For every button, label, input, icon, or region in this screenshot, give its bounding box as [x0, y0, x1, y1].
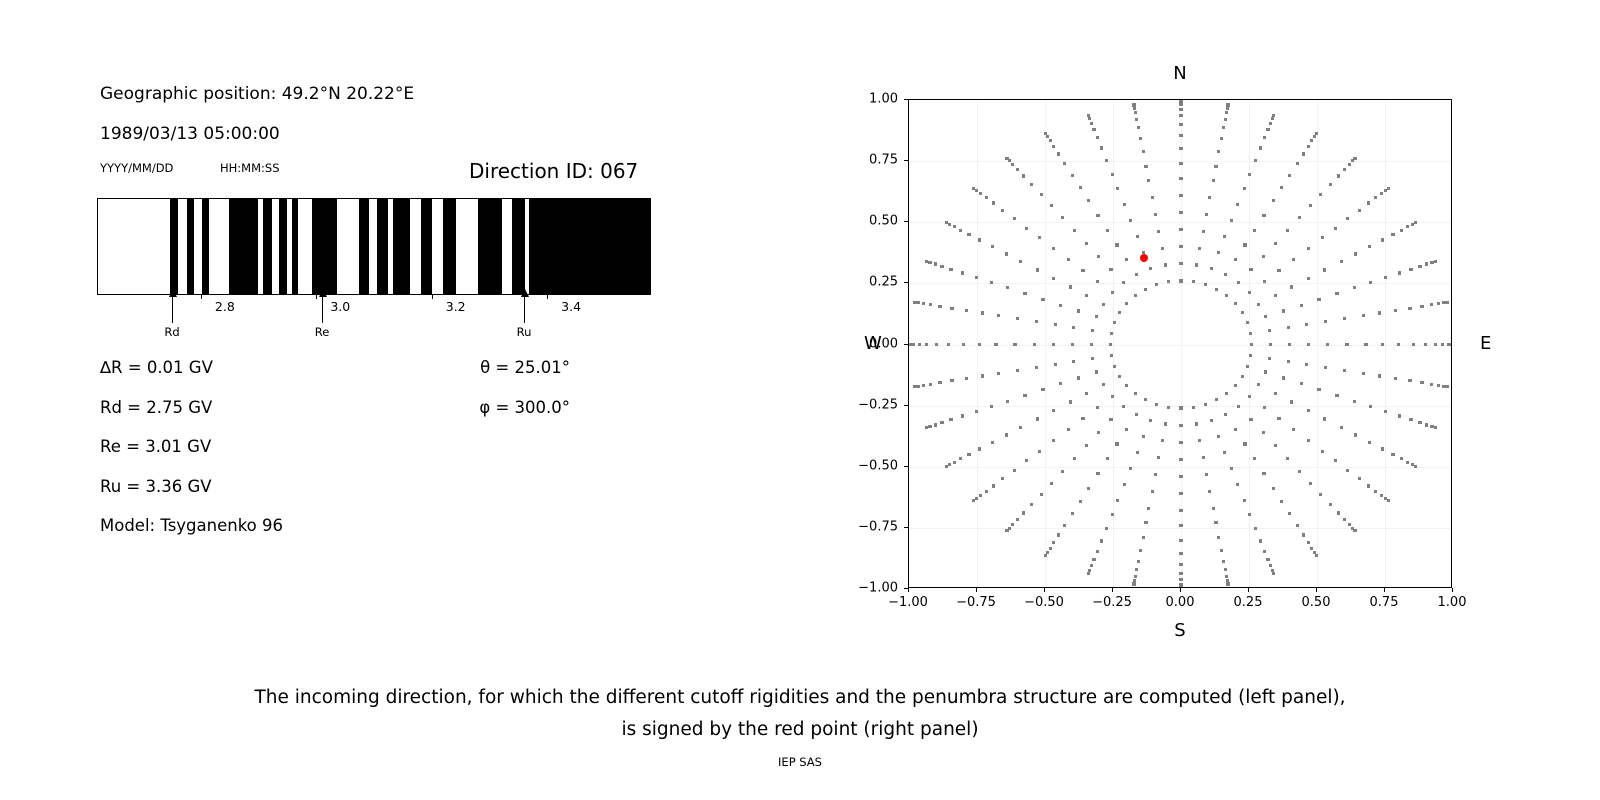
sky-point: [1257, 303, 1260, 306]
sky-point: [1041, 388, 1044, 391]
parameter-left-3: Ru = 3.36 GV: [100, 477, 212, 496]
sky-point: [1011, 163, 1014, 166]
sky-point: [1425, 423, 1428, 426]
penumbra-band: [263, 199, 272, 294]
sky-point: [1151, 490, 1154, 493]
sky-point: [1179, 103, 1182, 106]
sky-point: [1324, 366, 1327, 369]
sky-point: [1272, 114, 1275, 117]
sky-point: [1225, 111, 1228, 114]
sky-point: [1262, 472, 1265, 475]
sky-point: [1069, 285, 1072, 288]
sky-point: [1016, 369, 1019, 372]
sky-point: [1334, 459, 1337, 462]
sky-point: [925, 343, 928, 346]
sky-point: [949, 268, 952, 271]
sky-point: [975, 410, 978, 413]
sky-point: [1090, 564, 1093, 567]
sky-point: [961, 271, 964, 274]
sky-point: [1398, 414, 1401, 417]
sky-point: [1450, 343, 1452, 346]
penumbra-band: [202, 199, 208, 294]
sky-point: [1135, 273, 1138, 276]
sky-point: [1353, 400, 1356, 403]
sky-point: [1102, 383, 1105, 386]
sky-point: [925, 426, 928, 429]
sky-point: [947, 343, 950, 346]
sky-point: [1016, 317, 1019, 320]
sky-point: [1274, 294, 1277, 297]
sky-point: [1071, 174, 1074, 177]
sky-point: [1022, 174, 1025, 177]
penumbra-band: [170, 199, 178, 294]
sky-point: [1319, 193, 1322, 196]
sky-point: [1302, 533, 1305, 536]
sky-point: [1334, 227, 1337, 230]
sky-point: [1005, 433, 1008, 436]
sky-point: [1052, 343, 1055, 346]
sky-point: [991, 441, 994, 444]
sky-point: [1040, 193, 1043, 196]
yaxis-tick: [904, 221, 908, 222]
sky-point: [1340, 426, 1343, 429]
sky-point: [1179, 245, 1182, 248]
sky-point: [1059, 382, 1062, 385]
sky-point: [922, 302, 925, 305]
sky-point: [959, 457, 962, 460]
sky-point: [1412, 343, 1415, 346]
sky-point: [1137, 126, 1140, 129]
xaxis-tick: [1044, 588, 1045, 592]
sky-point: [1230, 467, 1233, 470]
sky-point: [909, 343, 912, 346]
sky-point: [1400, 457, 1403, 460]
sky-point: [1269, 122, 1272, 125]
sky-point: [1364, 343, 1367, 346]
sky-point: [1263, 136, 1266, 139]
sky-point: [1135, 413, 1138, 416]
sky-point: [1125, 258, 1128, 261]
sky-point: [1135, 568, 1138, 571]
yaxis-tick-label: 0.25: [850, 275, 898, 290]
sky-point: [1106, 457, 1109, 460]
sky-point: [929, 303, 932, 306]
sky-point: [1144, 165, 1147, 168]
compass-label-east: E: [1480, 333, 1491, 354]
sky-point: [1307, 541, 1310, 544]
sky-point: [1139, 137, 1142, 140]
sky-point: [1179, 228, 1182, 231]
xaxis-tick: [1316, 588, 1317, 592]
sky-point: [1157, 456, 1160, 459]
sky-point: [1309, 482, 1312, 485]
penumbra-bands-container: [97, 198, 651, 295]
sky-point: [1446, 385, 1449, 388]
sky-point: [1179, 114, 1182, 117]
sky-point: [1202, 230, 1205, 233]
sky-point: [1214, 165, 1217, 168]
penumbra-tick: [316, 295, 317, 299]
sky-point: [1315, 132, 1318, 135]
sky-point: [1050, 482, 1053, 485]
sky-point: [1036, 268, 1039, 271]
sky-point: [1116, 499, 1119, 502]
sky-point: [925, 260, 928, 263]
sky-point: [1217, 435, 1220, 438]
sky-point: [1095, 315, 1098, 318]
sky-point: [1195, 263, 1198, 266]
sky-point: [1391, 453, 1394, 456]
sky-point: [1125, 428, 1128, 431]
sky-point: [948, 223, 951, 226]
gridline-vertical: [1385, 100, 1386, 587]
sky-point: [1249, 268, 1252, 271]
sky-point: [978, 238, 981, 241]
sky-point: [1381, 447, 1384, 450]
sky-point: [1016, 518, 1019, 521]
sky-point: [1264, 315, 1267, 318]
sky-point: [1277, 417, 1280, 420]
sky-point: [1378, 311, 1381, 314]
sky-point: [1057, 152, 1060, 155]
sky-point: [1136, 451, 1139, 454]
sky-point: [1391, 233, 1394, 236]
sky-point: [1353, 286, 1356, 289]
sky-point: [1226, 582, 1229, 585]
sky-point: [1179, 211, 1182, 214]
sky-point: [1110, 332, 1113, 335]
sky-point: [1223, 451, 1226, 454]
gridline-vertical: [1181, 100, 1182, 587]
parameter-left-2: Re = 3.01 GV: [100, 437, 211, 456]
sky-point: [1397, 343, 1400, 346]
xaxis-tick-label: −1.00: [888, 595, 928, 610]
sky-point: [1394, 377, 1397, 380]
sky-point: [1136, 235, 1139, 238]
sky-point: [1282, 376, 1285, 379]
sky-point: [950, 307, 953, 310]
sky-point: [1092, 128, 1095, 131]
sky-point: [913, 301, 916, 304]
sky-point: [1179, 123, 1182, 126]
sky-point: [1224, 273, 1227, 276]
sky-point: [1343, 168, 1346, 171]
sky-point: [938, 381, 941, 384]
sky-point: [1441, 343, 1444, 346]
geographic-position-label: Geographic position: 49.2°N 20.22°E: [100, 84, 414, 104]
sky-point: [1418, 421, 1421, 424]
sky-point: [1323, 268, 1326, 271]
sky-point: [1253, 457, 1256, 460]
sky-point: [1022, 511, 1025, 514]
sky-point: [967, 233, 970, 236]
sky-point: [1310, 139, 1313, 142]
xaxis-tick-label: 0.75: [1370, 595, 1399, 610]
sky-point: [1317, 388, 1320, 391]
sky-point: [934, 262, 937, 265]
xaxis-tick: [1112, 588, 1113, 592]
sky-point: [1335, 292, 1338, 295]
sky-point: [1214, 521, 1217, 524]
sky-point: [1106, 229, 1109, 232]
sky-point: [1237, 281, 1240, 284]
sky-point: [1005, 157, 1008, 160]
sky-point: [913, 385, 916, 388]
yaxis-tick: [904, 405, 908, 406]
sky-point: [1198, 439, 1201, 442]
sky-point: [1266, 558, 1269, 561]
sky-point: [1179, 475, 1182, 478]
sky-point: [1288, 174, 1291, 177]
sky-point: [1236, 203, 1239, 206]
sky-point: [1154, 213, 1157, 216]
sky-point: [975, 189, 978, 192]
sky-point: [1115, 243, 1118, 246]
sky-point: [1292, 258, 1295, 261]
sky-point: [1105, 527, 1108, 530]
sky-point: [1243, 187, 1246, 190]
rigidity-marker-label: Rd: [164, 325, 179, 339]
yaxis-tick-label: 1.00: [850, 92, 898, 107]
time-format-hint: HH:MM:SS: [220, 161, 280, 175]
sky-point: [1434, 343, 1437, 346]
sky-point: [1105, 159, 1108, 162]
sky-point: [1326, 343, 1329, 346]
sky-point: [1142, 536, 1145, 539]
penumbra-band: [512, 199, 525, 294]
sky-map-panel: −1.00−0.75−0.50−0.250.000.250.500.751.00…: [800, 0, 1600, 660]
sky-point: [1262, 431, 1265, 434]
date-format-hint: YYYY/MM/DD: [100, 161, 173, 175]
sky-point: [1337, 174, 1340, 177]
sky-point: [953, 225, 956, 228]
penumbra-panel: Geographic position: 49.2°N 20.22°E 1989…: [0, 0, 800, 660]
sky-point: [1077, 376, 1080, 379]
penumbra-tick-label: 3.4: [561, 299, 581, 314]
sky-point: [1081, 269, 1084, 272]
sky-point: [1420, 305, 1423, 308]
sky-point: [1234, 384, 1237, 387]
xaxis-tick-label: 0.00: [1166, 595, 1195, 610]
sky-point: [1243, 442, 1246, 445]
sky-point: [1164, 422, 1167, 425]
yaxis-tick: [904, 160, 908, 161]
sky-point: [1125, 302, 1128, 305]
penumbra-tick: [547, 295, 548, 299]
sky-point: [1296, 162, 1299, 165]
sky-point: [1179, 100, 1182, 103]
yaxis-tick-label: −1.00: [850, 581, 898, 596]
sky-point: [1073, 457, 1076, 460]
penumbra-band: [359, 199, 369, 294]
sky-point: [1298, 216, 1301, 219]
sky-point: [1122, 405, 1125, 408]
sky-point: [1059, 304, 1062, 307]
sky-point: [1069, 400, 1072, 403]
sky-point: [1248, 291, 1251, 294]
sky-point: [1394, 309, 1397, 312]
sky-point: [1085, 294, 1088, 297]
sky-point: [1253, 229, 1256, 232]
gridline-vertical: [1045, 100, 1046, 587]
sky-point: [929, 383, 932, 386]
sky-point: [1179, 509, 1182, 512]
penumbra-band: [443, 199, 456, 294]
sky-point: [1305, 323, 1308, 326]
sky-point: [1374, 490, 1377, 493]
sky-point: [1144, 288, 1147, 291]
sky-point: [1220, 549, 1223, 552]
sky-point: [1287, 326, 1290, 329]
sky-point: [1272, 199, 1275, 202]
sky-point: [1025, 227, 1028, 230]
sky-point: [1272, 572, 1275, 575]
xaxis-tick-label: −0.75: [956, 595, 996, 610]
sky-point: [1384, 410, 1387, 413]
sky-point: [1300, 304, 1303, 307]
parameter-right-1: φ = 300.0°: [479, 398, 570, 417]
sky-point: [1348, 163, 1351, 166]
sky-point: [1210, 419, 1213, 422]
sky-point: [1367, 484, 1370, 487]
sky-point: [1044, 554, 1047, 557]
sky-point: [1420, 381, 1423, 384]
sky-point: [1387, 187, 1390, 190]
sky-point: [1307, 247, 1310, 250]
sky-point: [1115, 442, 1118, 445]
sky-point: [1345, 343, 1348, 346]
sky-point: [981, 374, 984, 377]
sky-point: [1202, 456, 1205, 459]
sky-point: [1102, 303, 1105, 306]
sky-point: [1072, 360, 1075, 363]
sky-point: [1087, 572, 1090, 575]
sky-point: [1380, 494, 1383, 497]
sky-point: [1123, 203, 1126, 206]
sky-point: [1343, 317, 1346, 320]
sky-point: [1424, 343, 1427, 346]
xaxis-tick: [976, 588, 977, 592]
sky-point: [1118, 375, 1121, 378]
sky-point: [1269, 343, 1272, 346]
yaxis-tick-label: −0.25: [850, 397, 898, 412]
sky-point: [1137, 560, 1140, 563]
sky-point: [1241, 311, 1244, 314]
sky-point: [1092, 558, 1095, 561]
sky-point: [1243, 499, 1246, 502]
marker-stem: [524, 295, 525, 323]
sky-point: [991, 245, 994, 248]
sky-point: [1090, 343, 1093, 346]
sky-point: [1155, 403, 1158, 406]
sky-point: [1052, 439, 1055, 442]
sky-point: [1135, 118, 1138, 121]
sky-point: [1271, 117, 1274, 120]
sky-point: [1249, 332, 1252, 335]
sky-point: [1011, 523, 1014, 526]
sky-point: [1072, 326, 1075, 329]
xaxis-tick-label: 0.25: [1234, 595, 1263, 610]
sky-point: [916, 301, 919, 304]
sky-point: [1248, 173, 1251, 176]
sky-point: [1263, 280, 1266, 283]
sky-point: [1369, 405, 1372, 408]
sky-point: [916, 385, 919, 388]
sky-point: [1052, 409, 1055, 412]
sky-point: [1210, 267, 1213, 270]
sky-point: [1041, 298, 1044, 301]
sky-point: [1274, 444, 1277, 447]
sky-point: [1154, 473, 1157, 476]
penumbra-band: [529, 199, 652, 294]
sky-point: [1307, 277, 1310, 280]
sky-point: [1246, 321, 1249, 324]
sky-point: [1406, 225, 1409, 228]
sky-point: [1019, 260, 1022, 263]
selected-direction-point[interactable]: [1140, 254, 1148, 262]
sky-point: [950, 379, 953, 382]
sky-point: [965, 309, 968, 312]
direction-id-label: Direction ID: 067: [469, 159, 638, 183]
sky-point: [1362, 372, 1365, 375]
sky-point: [1133, 106, 1136, 109]
sky-point: [1337, 511, 1340, 514]
sky-point: [959, 229, 962, 232]
sky-point: [1340, 260, 1343, 263]
sky-point: [1139, 549, 1142, 552]
caption-line-2: is signed by the red point (right panel): [0, 714, 1600, 746]
sky-point: [1001, 477, 1004, 480]
sky-point: [990, 405, 993, 408]
sky-point: [1179, 279, 1182, 282]
sky-point: [912, 343, 915, 346]
yaxis-tick: [904, 527, 908, 528]
sky-point: [1274, 392, 1277, 395]
sky-point: [1266, 128, 1269, 131]
sky-point: [1222, 560, 1225, 563]
sky-point: [1317, 298, 1320, 301]
sky-point: [1204, 283, 1207, 286]
sky-point: [1234, 258, 1237, 261]
sky-point: [1113, 321, 1116, 324]
sky-point: [1302, 152, 1305, 155]
sky-point: [1434, 426, 1437, 429]
sky-point: [945, 465, 948, 468]
penumbra-band: [312, 199, 337, 294]
sky-point: [1111, 173, 1114, 176]
sky-point: [1016, 168, 1019, 171]
rigidity-marker-label: Ru: [517, 325, 532, 339]
sky-point: [1280, 500, 1283, 503]
sky-point: [1374, 196, 1377, 199]
sky-point: [1263, 406, 1266, 409]
penumbra-chart: [97, 198, 651, 295]
sky-point: [1129, 467, 1132, 470]
sky-point: [1195, 422, 1198, 425]
sky-point: [1025, 459, 1028, 462]
sky-point: [1277, 269, 1280, 272]
sky-point: [992, 484, 995, 487]
sky-point: [1091, 329, 1094, 332]
sky-point: [1248, 395, 1251, 398]
sky-point: [949, 418, 952, 421]
sky-point: [1179, 134, 1182, 137]
sky-point: [1149, 419, 1152, 422]
sky-point: [945, 221, 948, 224]
sky-point: [1362, 314, 1365, 317]
penumbra-tick: [432, 295, 433, 299]
sky-point: [1343, 518, 1346, 521]
